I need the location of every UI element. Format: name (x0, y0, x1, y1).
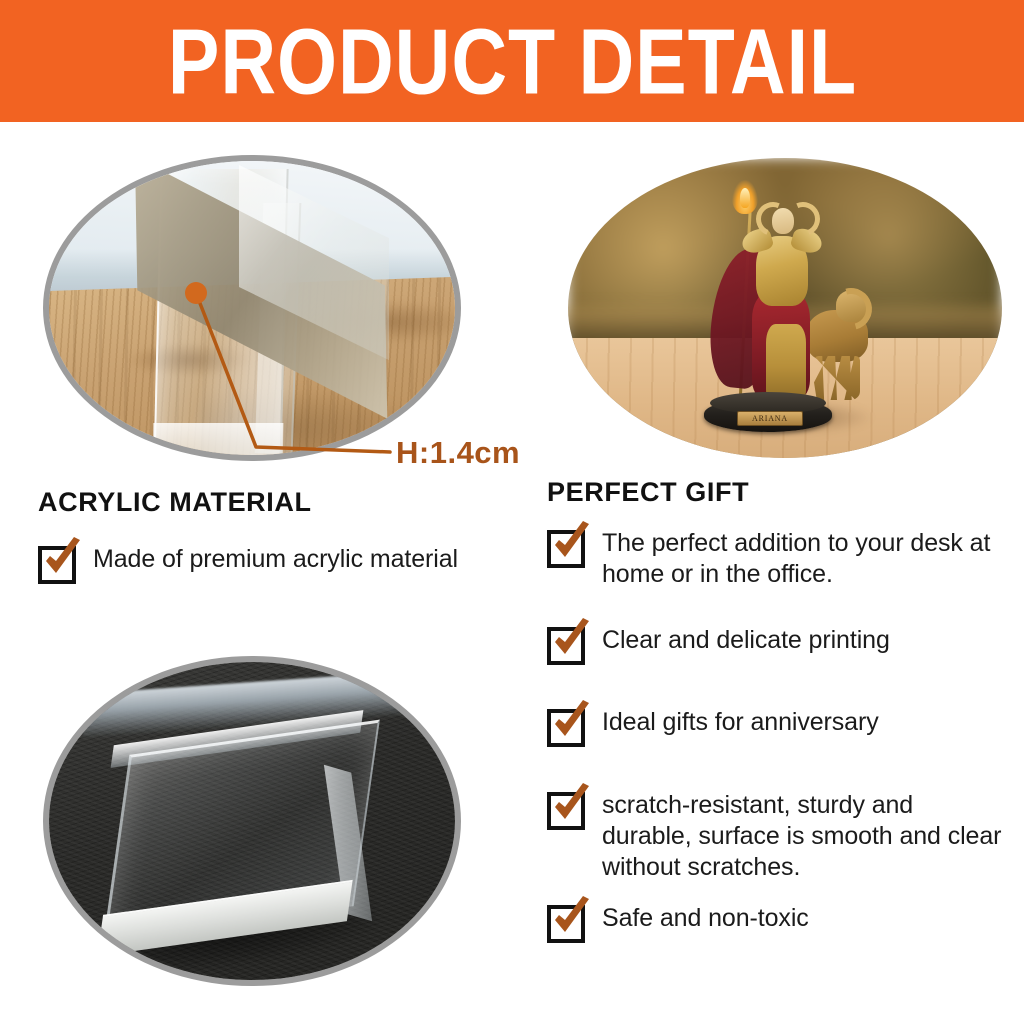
statue-legs (766, 324, 806, 402)
checklist-item: Ideal gifts for anniversary (547, 707, 999, 747)
statue-staff-flame-core (740, 188, 750, 208)
acrylic-edge-photo (43, 155, 461, 461)
section-heading-acrylic-material: ACRYLIC MATERIAL (38, 487, 312, 517)
statue-horn-right (781, 197, 825, 241)
checklist-item: Safe and non-toxic (547, 903, 999, 943)
acrylic-block-photo (43, 656, 461, 986)
checkmark-icon (548, 896, 594, 942)
checkmark-icon (548, 700, 594, 746)
checklist-item-text: Ideal gifts for anniversary (602, 707, 879, 738)
aries-goddess-statue: ARIANA (694, 174, 874, 432)
acrylic-slab-base-highlight (153, 423, 284, 461)
checkmark-icon (39, 537, 85, 583)
statue-nameplate-text: ARIANA (752, 415, 788, 423)
checklist-item: scratch-resistant, sturdy and durable, s… (547, 790, 1009, 883)
checkbox-checked-icon (547, 792, 585, 830)
checklist-item: The perfect addition to your desk at hom… (547, 528, 999, 590)
page-header-banner: PRODUCT DETAIL (0, 0, 1024, 122)
statue-nameplate: ARIANA (737, 411, 803, 426)
checkmark-icon (548, 521, 594, 567)
checkbox-checked-icon (547, 627, 585, 665)
checkbox-checked-icon (547, 530, 585, 568)
checklist-item-text: Made of premium acrylic material (93, 544, 458, 575)
product-detail-page: PRODUCT DETAIL H:1.4cm (0, 0, 1024, 1024)
checkbox-checked-icon (547, 709, 585, 747)
figurine-photo: ARIANA (568, 158, 1002, 458)
ram-legs (814, 356, 860, 400)
checklist-item-text: The perfect addition to your desk at hom… (602, 528, 999, 590)
checklist-item-text: scratch-resistant, sturdy and durable, s… (602, 790, 1009, 883)
section-heading-perfect-gift: PERFECT GIFT (547, 477, 749, 507)
checkmark-icon (548, 618, 594, 664)
height-dimension-label: H:1.4cm (396, 437, 520, 468)
checklist-item: Clear and delicate printing (547, 625, 999, 665)
checkbox-checked-icon (38, 546, 76, 584)
checkmark-icon (548, 783, 594, 829)
ram-companion (806, 286, 880, 402)
checklist-item-text: Safe and non-toxic (602, 903, 809, 934)
checklist-item-text: Clear and delicate printing (602, 625, 890, 656)
checkbox-checked-icon (547, 905, 585, 943)
page-title: PRODUCT DETAIL (167, 15, 856, 108)
checklist-item: Made of premium acrylic material (38, 544, 508, 584)
